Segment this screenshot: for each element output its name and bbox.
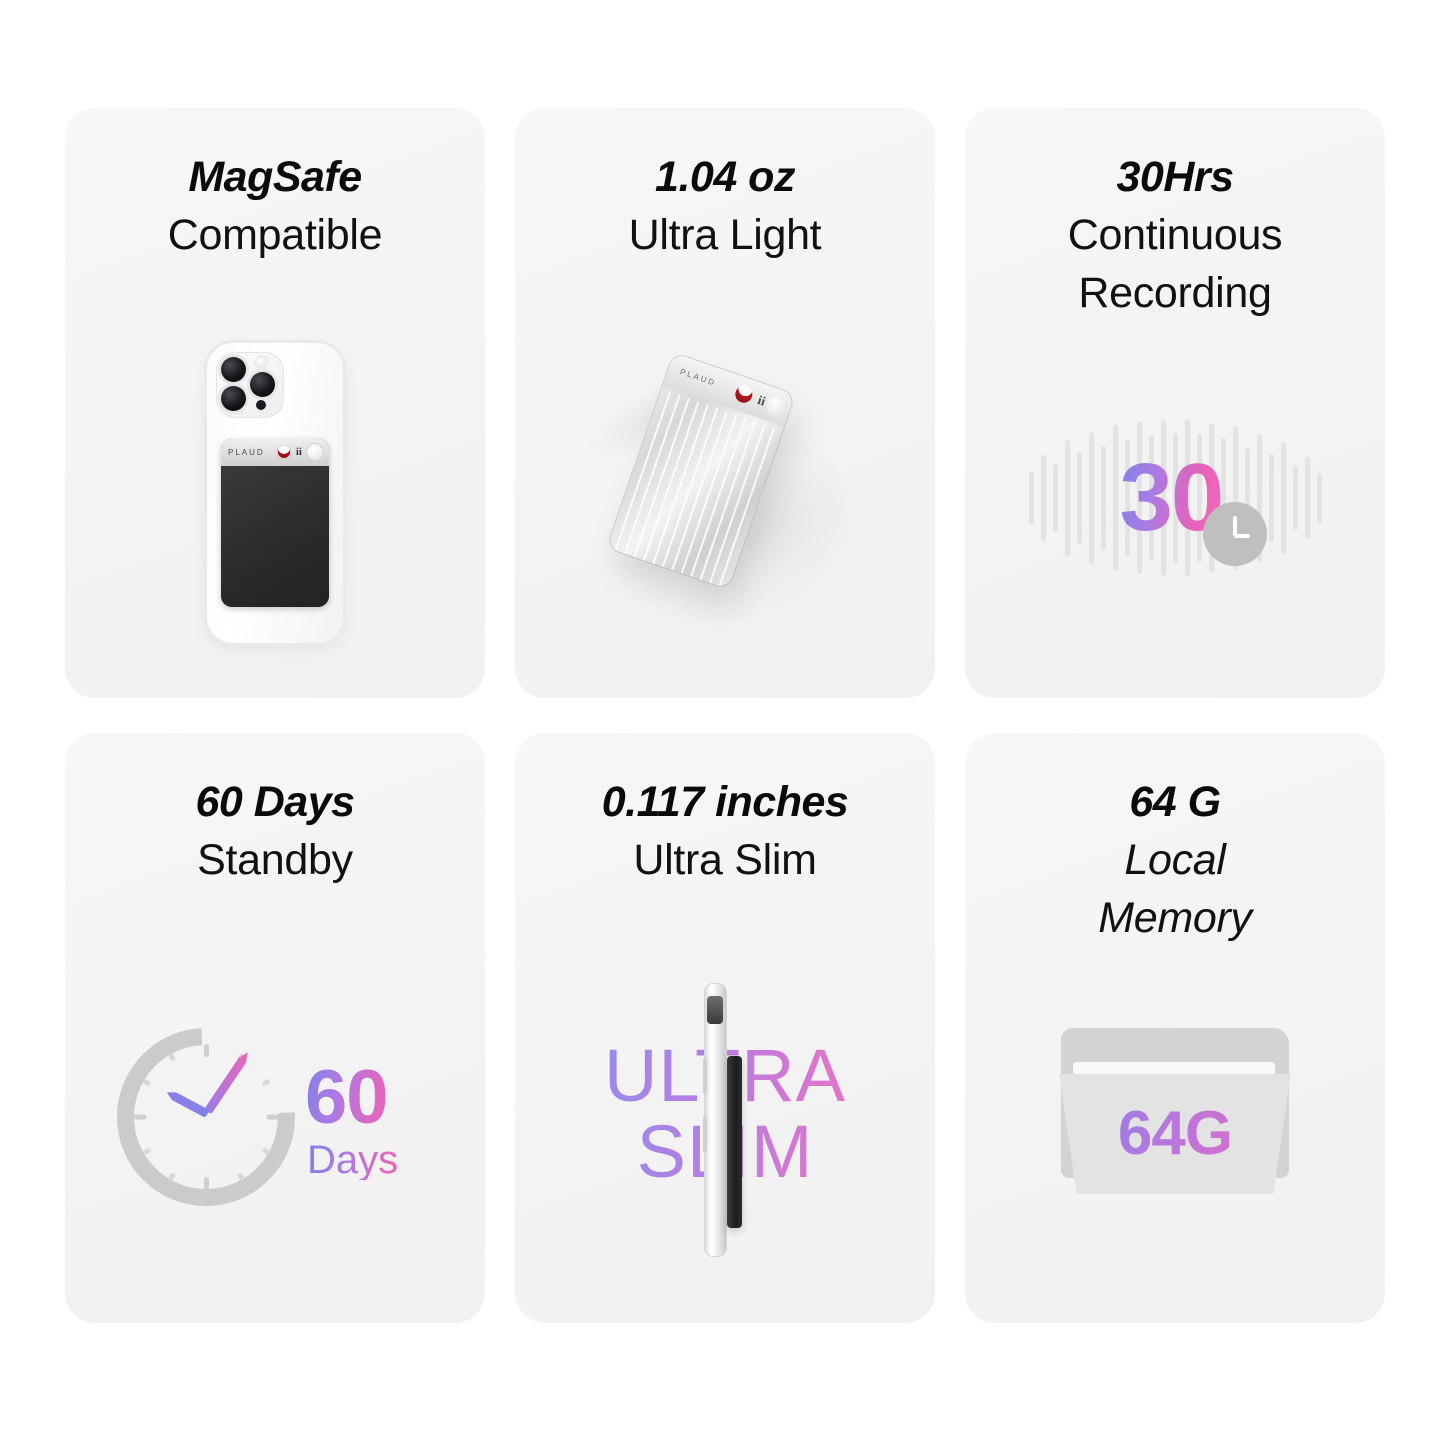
- card-art-waveform: 30: [965, 298, 1385, 698]
- card-text-ultra-light: 1.04 oz Ultra Light: [515, 152, 935, 261]
- record-indicator-icon: [733, 383, 755, 405]
- folder-stage: 64G: [1025, 1018, 1325, 1228]
- card-text-magsafe: MagSafe Compatible: [65, 152, 485, 261]
- card-art-folder: 64G: [965, 923, 1385, 1323]
- memory-capacity-number: 64G: [1025, 1098, 1325, 1169]
- card-art-silver-recorder-on-feather: PLAUD ii: [515, 298, 935, 698]
- camera-lens-icon: [221, 357, 246, 382]
- camera-lens-icon: [250, 372, 275, 397]
- days-number: 60: [305, 1060, 388, 1136]
- iphone-back-illustration: PLAUD ii: [207, 343, 343, 643]
- card-subline-line1: Local: [983, 834, 1367, 886]
- card-headline: MagSafe: [83, 152, 467, 203]
- card-headline: 60 Days: [83, 777, 467, 828]
- record-indicator-icon: [277, 445, 291, 459]
- recorder-button-icon: [764, 394, 788, 418]
- folder-tab-icon: [1061, 1028, 1173, 1054]
- recorder-body: [221, 466, 329, 607]
- lidar-sensor-icon: [256, 400, 266, 410]
- power-button-icon: [703, 1116, 707, 1152]
- feature-card-ultra-slim: 0.117 inches Ultra Slim ULTRA SLIM: [515, 733, 935, 1323]
- card-subline: Ultra Slim: [533, 834, 917, 886]
- days-label: Days: [307, 1140, 398, 1180]
- card-headline: 30Hrs: [983, 152, 1367, 203]
- card-text-continuous-recording: 30Hrs Continuous Recording: [965, 152, 1385, 320]
- volume-button-icon: [703, 1058, 707, 1094]
- card-text-local-memory: 64 G Local Memory: [965, 777, 1385, 945]
- feature-card-magsafe: MagSafe Compatible PLAUD ii: [65, 108, 485, 698]
- plaud-brand-label: PLAUD: [679, 367, 718, 388]
- camera-flash-icon: [256, 357, 267, 368]
- card-art-clock: 60 Days: [65, 923, 485, 1323]
- card-text-ultra-slim: 0.117 inches Ultra Slim: [515, 777, 935, 886]
- camera-bump-icon: [707, 996, 723, 1024]
- card-subline: Standby: [83, 834, 467, 886]
- recorder-side-profile-icon: [727, 1056, 742, 1228]
- feather-stage: PLAUD ii: [575, 338, 875, 658]
- slim-stage: ULTRA SLIM: [555, 978, 895, 1268]
- feature-card-ultra-light: 1.04 oz Ultra Light PLAUD ii: [515, 108, 935, 698]
- plaud-recorder-device: PLAUD ii: [221, 439, 329, 607]
- plaud-brand-label: PLAUD: [228, 448, 265, 457]
- phone-side-profile-icon: [705, 984, 726, 1256]
- clock-ticks-icon: [117, 1028, 295, 1206]
- card-headline: 1.04 oz: [533, 152, 917, 203]
- feature-card-local-memory: 64 G Local Memory 64G: [965, 733, 1385, 1323]
- card-text-standby: 60 Days Standby: [65, 777, 485, 886]
- card-headline: 0.117 inches: [533, 777, 917, 828]
- camera-island-icon: [216, 352, 284, 418]
- card-subline: Compatible: [83, 209, 467, 261]
- recorder-button-icon: [307, 444, 323, 460]
- card-subline: Ultra Light: [533, 209, 917, 261]
- card-art-phone-with-recorder: PLAUD ii: [65, 298, 485, 698]
- plaud-ii-logo-icon: ii: [296, 446, 302, 458]
- feature-grid: MagSafe Compatible PLAUD ii: [65, 108, 1385, 1323]
- card-art-side-profile: ULTRA SLIM: [515, 923, 935, 1323]
- camera-lens-icon: [221, 386, 246, 411]
- card-subline-line1: Continuous: [983, 209, 1367, 261]
- card-headline: 64 G: [983, 777, 1367, 828]
- recorder-top-bar: PLAUD ii: [221, 439, 329, 466]
- waveform-stage: 30: [990, 408, 1360, 588]
- feature-card-standby: 60 Days Standby: [65, 733, 485, 1323]
- feature-card-continuous-recording: 30Hrs Continuous Recording: [965, 108, 1385, 698]
- folder-inner-sheet-icon: [1073, 1062, 1275, 1076]
- clock-icon: [1203, 502, 1267, 566]
- clock-stage: 60 Days: [105, 1018, 445, 1228]
